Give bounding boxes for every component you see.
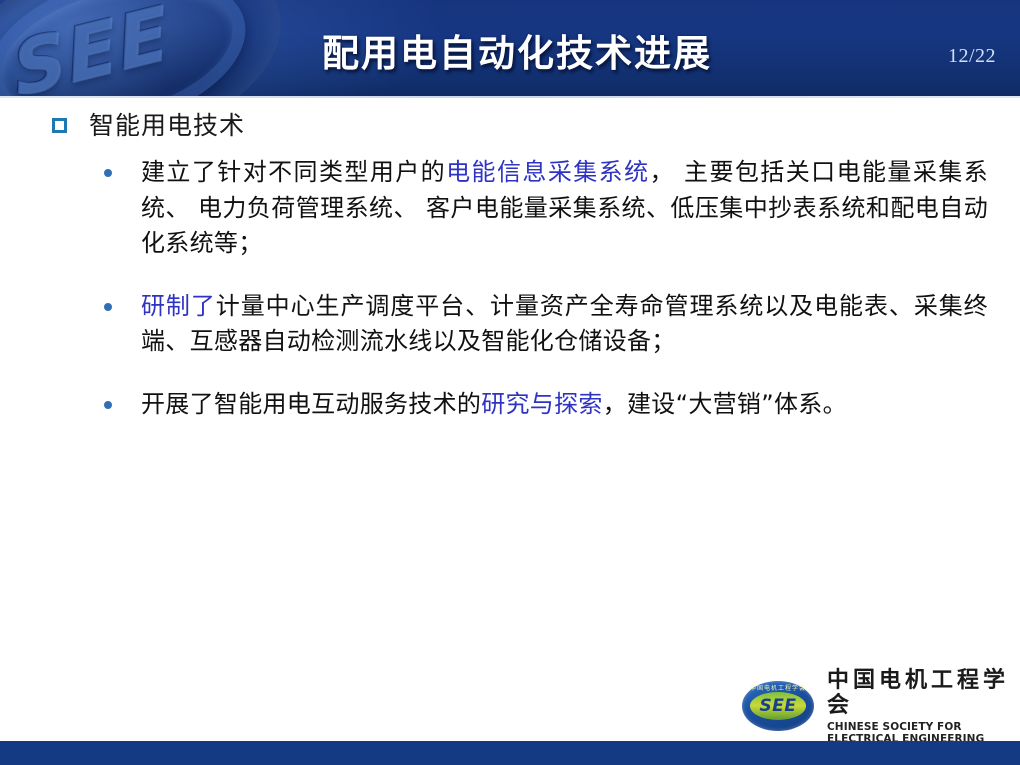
emblem-see-text: SEE [742, 692, 814, 720]
see-emblem-icon: 中国电机工程学会 SEE [742, 681, 814, 731]
page-title: 配用电自动化技术进展 [0, 23, 1020, 77]
list-item: 建立了针对不同类型用户的电能信息采集系统， 主要包括关口电能量采集系统、 电力负… [104, 155, 988, 262]
footer-bar [0, 741, 1020, 765]
dot-bullet-icon [104, 401, 112, 409]
society-names: 中国电机工程学会 CHINESE SOCIETY FOR ELECTRICAL … [827, 668, 1020, 745]
society-name-cn: 中国电机工程学会 [827, 668, 1020, 719]
bullet-text-1: 建立了针对不同类型用户的电能信息采集系统， 主要包括关口电能量采集系统、 电力负… [141, 155, 988, 262]
highlighted-text: 电能信息采集系统 [446, 158, 649, 186]
section-heading: 智能用电技术 [89, 110, 245, 141]
highlighted-text: 研制了 [141, 292, 216, 320]
hollow-square-bullet-icon [52, 118, 67, 133]
plain-text: 建立了针对不同类型用户的 [141, 158, 446, 186]
highlighted-text: 研究与探索 [481, 390, 603, 418]
dot-bullet-icon [104, 169, 112, 177]
slide: SEE 配用电自动化技术进展 12/22 智能用电技术 建立了针对不同类型用户的… [0, 0, 1020, 765]
bullet-text-3: 开展了智能用电互动服务技术的研究与探索，建设“大营销”体系。 [141, 387, 988, 423]
list-item: 研制了计量中心生产调度平台、计量资产全寿命管理系统以及电能表、采集终端、互感器自… [104, 289, 988, 360]
bullet-text-2: 研制了计量中心生产调度平台、计量资产全寿命管理系统以及电能表、采集终端、互感器自… [141, 289, 988, 360]
list-item: 开展了智能用电互动服务技术的研究与探索，建设“大营销”体系。 [104, 387, 988, 423]
header-divider [0, 96, 1020, 98]
plain-text: 开展了智能用电互动服务技术的 [141, 390, 481, 418]
dot-bullet-icon [104, 303, 112, 311]
plain-text: 计量中心生产调度平台、计量资产全寿命管理系统以及电能表、采集终端、互感器自动检测… [141, 292, 988, 356]
page-number: 12/22 [948, 45, 996, 68]
society-logo: 中国电机工程学会 SEE 中国电机工程学会 CHINESE SOCIETY FO… [742, 668, 1020, 745]
section-heading-row: 智能用电技术 [52, 110, 245, 141]
slide-body: 智能用电技术 建立了针对不同类型用户的电能信息采集系统， 主要包括关口电能量采集… [0, 99, 1020, 649]
bullet-list: 建立了针对不同类型用户的电能信息采集系统， 主要包括关口电能量采集系统、 电力负… [104, 155, 988, 449]
slide-header: SEE 配用电自动化技术进展 12/22 [0, 0, 1020, 97]
plain-text: ，建设“大营销”体系。 [603, 390, 847, 418]
